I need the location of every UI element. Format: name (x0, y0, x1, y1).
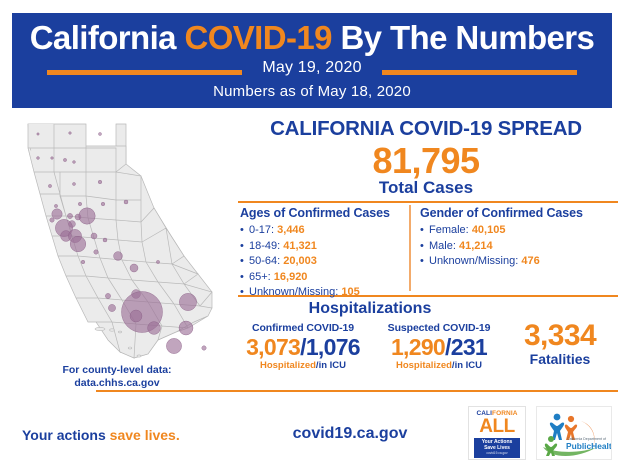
ages-item-value: 16,920 (274, 271, 308, 283)
page-title: California COVID-19 By The Numbers (12, 19, 612, 57)
gender-item-label: Male: (429, 240, 456, 252)
footer-tagline: Your actions save lives. (22, 427, 180, 443)
california-case-map (8, 116, 226, 366)
ages-item-value: 105 (341, 286, 359, 298)
total-cases-label: Total Cases (232, 178, 620, 198)
confirmed-sub-icu: in ICU (319, 360, 346, 371)
covid-infographic: California COVID-19 By The Numbers May 1… (0, 0, 624, 467)
ages-list: 0-17: 3,446 18-49: 41,321 50-64: 20,003 … (240, 223, 405, 301)
ages-heading: Ages of Confirmed Cases (240, 206, 405, 220)
suspected-sublabel: Hospitalized/in ICU (372, 360, 506, 371)
suspected-figures: 1,290/231 (372, 334, 506, 360)
list-item: 18-49: 41,321 (240, 239, 405, 255)
header-dateline: May 19, 2020 (12, 59, 612, 81)
footer-url[interactable]: covid19.ca.gov (250, 425, 450, 443)
hospitalizations-confirmed: Confirmed COVID-19 3,073/1,076 Hospitali… (236, 322, 370, 371)
gender-list: Female: 40,105 Male: 41,214 Unknown/Miss… (420, 223, 610, 270)
gender-item-label: Female: (429, 224, 469, 236)
list-item: Male: 41,214 (420, 239, 610, 255)
gender-item-value: 40,105 (472, 224, 506, 236)
gender-item-value: 41,214 (459, 240, 493, 252)
fatalities-label: Fatalities (500, 351, 620, 367)
california-all-logo: CALIFORNIA ALL Your Actions Save Lives c… (468, 406, 526, 460)
list-item: 0-17: 3,446 (240, 223, 405, 239)
cdph-name-health: Health (591, 441, 611, 451)
confirmed-icu-value: 1,076 (306, 334, 360, 360)
fatalities-value: 3,334 (500, 319, 620, 353)
map-caption: For county-level data: data.chhs.ca.gov (8, 364, 226, 390)
spread-section-title: CALIFORNIA COVID-19 SPREAD (232, 117, 620, 141)
divider-between-demographics (409, 205, 411, 291)
cdph-logo: California Department of PublicHealth (536, 406, 612, 460)
gender-heading: Gender of Confirmed Cases (420, 206, 610, 220)
divider-above-footer (96, 390, 618, 392)
confirmed-figures: 3,073/1,076 (236, 334, 370, 360)
map-caption-line-1: For county-level data: (8, 364, 226, 377)
confirmed-kicker: Confirmed COVID-19 (236, 322, 370, 334)
title-part-2: By The Numbers (332, 19, 594, 56)
header-banner: California COVID-19 By The Numbers May 1… (12, 13, 612, 108)
ages-item-label: 0-17: (249, 224, 274, 236)
list-item: Unknown/Missing: 476 (420, 254, 610, 270)
suspected-hospitalized-value: 1,290 (391, 334, 445, 360)
ages-item-label: 18-49: (249, 240, 280, 252)
confirmed-sub-hospitalized: Hospitalized (260, 360, 316, 371)
hospitalizations-suspected: Suspected COVID-19 1,290/231 Hospitalize… (372, 322, 506, 371)
gender-item-value: 476 (521, 255, 539, 267)
suspected-icu-value: 231 (451, 334, 487, 360)
title-accent-covid19: COVID-19 (184, 19, 331, 56)
suspected-kicker: Suspected COVID-19 (372, 322, 506, 334)
ages-item-value: 41,321 (283, 240, 317, 252)
hospitalizations-heading: Hospitalizations (240, 300, 500, 318)
ages-item-label: 65+: (249, 271, 271, 283)
gender-section: Gender of Confirmed Cases Female: 40,105… (420, 206, 610, 270)
ca-all-badge: Your Actions Save Lives covid19.ca.gov (474, 438, 520, 458)
list-item: Female: 40,105 (420, 223, 610, 239)
list-item: Unknown/Missing: 105 (240, 285, 405, 301)
confirmed-hospitalized-value: 3,073 (246, 334, 300, 360)
list-item: 50-64: 20,003 (240, 254, 405, 270)
header-subtitle: Numbers as of May 18, 2020 (12, 83, 612, 100)
suspected-sub-icu: in ICU (455, 360, 482, 371)
tagline-blue-text: Your actions (22, 427, 110, 443)
confirmed-sublabel: Hospitalized/in ICU (236, 360, 370, 371)
suspected-sub-hospitalized: Hospitalized (396, 360, 452, 371)
ages-item-label: 50-64: (249, 255, 280, 267)
tagline-orange-text: save lives. (110, 427, 180, 443)
report-date: May 19, 2020 (12, 59, 612, 77)
cdph-name-public: PublicHealth (566, 441, 611, 451)
ages-item-label: Unknown/Missing: (249, 286, 338, 298)
gender-item-label: Unknown/Missing: (429, 255, 518, 267)
divider-above-demographics (238, 201, 618, 203)
ages-section: Ages of Confirmed Cases 0-17: 3,446 18-4… (240, 206, 405, 301)
ca-all-word: ALL (469, 417, 525, 436)
map-data-link[interactable]: data.chhs.ca.gov (8, 377, 226, 390)
list-item: 65+: 16,920 (240, 270, 405, 286)
total-cases-value: 81,795 (232, 140, 620, 182)
title-part-1: California (30, 19, 185, 56)
ages-item-value: 3,446 (277, 224, 305, 236)
ca-all-badge-line-3: covid19.ca.gov (475, 451, 519, 455)
ages-item-value: 20,003 (283, 255, 317, 267)
